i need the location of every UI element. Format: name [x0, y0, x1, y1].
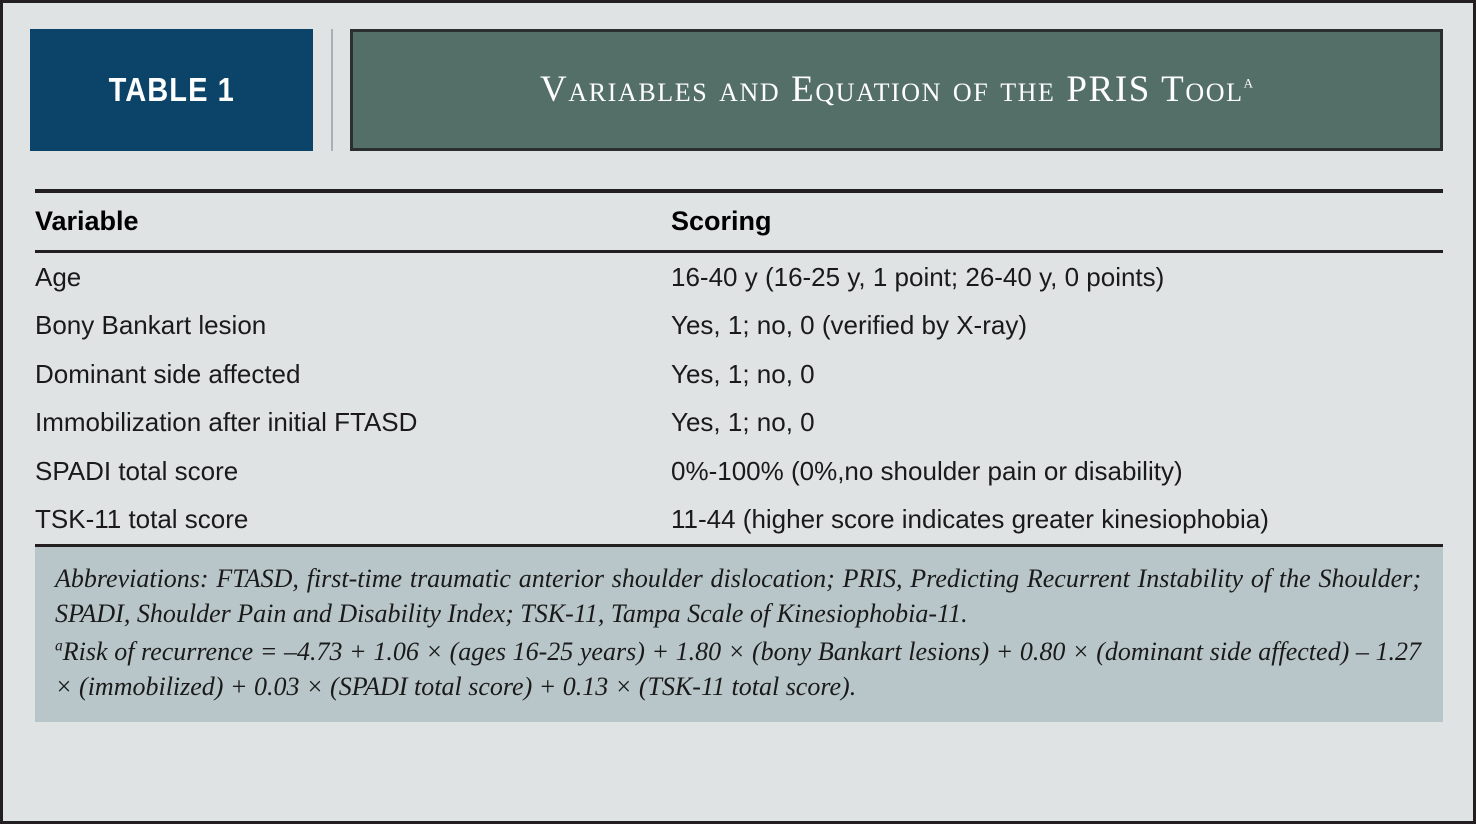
- variable-label: SPADI total score: [35, 456, 238, 486]
- table-row: SPADI total score 0%-100% (0%,no shoulde…: [35, 447, 1443, 496]
- table-header-band: TABLE 1 Variables and Equation of the PR…: [3, 3, 1473, 151]
- cell-scoring: 0%-100% (0%,no shoulder pain or disabili…: [671, 456, 1443, 487]
- cell-variable: Immobilization after initial FTASD: [35, 407, 671, 438]
- table-figure: TABLE 1 Variables and Equation of the PR…: [0, 0, 1476, 824]
- variable-label: Immobilization after initial FTASD: [35, 407, 417, 437]
- cell-scoring: Yes, 1; no, 0: [671, 359, 1443, 390]
- table-row: Dominant side affected Yes, 1; no, 0: [35, 350, 1443, 399]
- table-header-row: Variable Scoring: [35, 193, 1443, 250]
- table-row: Immobilization after initial FTASD Yes, …: [35, 399, 1443, 448]
- footnote-equation-text: Risk of recurrence = –4.73 + 1.06 × (age…: [55, 637, 1421, 701]
- table-content: Variable Scoring Age 16-40 y (16-25 y, 1…: [3, 189, 1473, 547]
- column-header-scoring-cell: Scoring: [671, 206, 1443, 237]
- column-header-variable: Variable: [35, 206, 139, 236]
- table-title-banner: Variables and Equation of the PRIS Toola: [350, 29, 1443, 151]
- variable-label: Dominant side affected: [35, 359, 300, 389]
- footnote-abbreviations: Abbreviations: FTASD, first-time traumat…: [55, 561, 1421, 632]
- column-header-variable-cell: Variable: [35, 206, 671, 237]
- cell-variable: Dominant side affected: [35, 359, 671, 390]
- table-number-badge: TABLE 1: [30, 29, 313, 151]
- table-title: Variables and Equation of the PRIS Toola: [540, 70, 1253, 111]
- scoring-value: 16-40 y (16-25 y, 1 point; 26-40 y, 0 po…: [671, 262, 1164, 292]
- header-divider: [331, 29, 333, 151]
- footnote-panel: Abbreviations: FTASD, first-time traumat…: [35, 547, 1443, 722]
- footnote-equation-marker: a: [55, 637, 63, 654]
- cell-scoring: Yes, 1; no, 0 (verified by X-ray): [671, 310, 1443, 341]
- cell-scoring: Yes, 1; no, 0: [671, 407, 1443, 438]
- table-number-label: TABLE 1: [108, 71, 234, 109]
- variable-label: TSK-11 total score: [35, 504, 248, 534]
- variable-label: Age: [35, 262, 81, 292]
- table-row: Bony Bankart lesion Yes, 1; no, 0 (verif…: [35, 302, 1443, 351]
- table-row: Age 16-40 y (16-25 y, 1 point; 26-40 y, …: [35, 253, 1443, 302]
- cell-variable: SPADI total score: [35, 456, 671, 487]
- cell-variable: Bony Bankart lesion: [35, 310, 671, 341]
- variable-label: Bony Bankart lesion: [35, 310, 266, 340]
- scoring-value: 11-44 (higher score indicates greater ki…: [671, 504, 1269, 534]
- cell-variable: TSK-11 total score: [35, 504, 671, 535]
- table-row: TSK-11 total score 11-44 (higher score i…: [35, 496, 1443, 545]
- scoring-value: 0%-100% (0%,no shoulder pain or disabili…: [671, 456, 1183, 486]
- scoring-value: Yes, 1; no, 0: [671, 359, 815, 389]
- table-title-footnote-marker: a: [1244, 71, 1253, 92]
- cell-scoring: 16-40 y (16-25 y, 1 point; 26-40 y, 0 po…: [671, 262, 1443, 293]
- column-header-scoring: Scoring: [671, 206, 772, 236]
- scoring-value: Yes, 1; no, 0: [671, 407, 815, 437]
- cell-variable: Age: [35, 262, 671, 293]
- cell-scoring: 11-44 (higher score indicates greater ki…: [671, 504, 1443, 535]
- scoring-value: Yes, 1; no, 0 (verified by X-ray): [671, 310, 1027, 340]
- table-title-text: Variables and Equation of the PRIS Tool: [540, 69, 1244, 110]
- footnote-equation: aRisk of recurrence = –4.73 + 1.06 × (ag…: [55, 634, 1421, 705]
